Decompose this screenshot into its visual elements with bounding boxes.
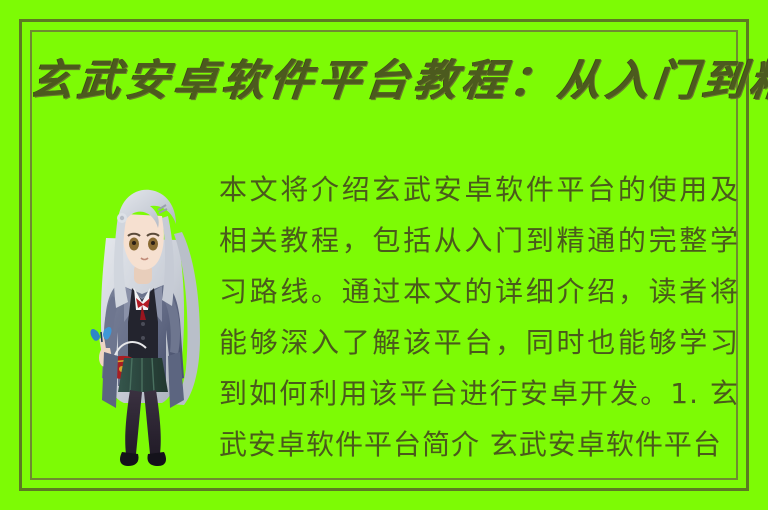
pupil-right [151, 241, 155, 245]
vest-button-1 [141, 322, 145, 326]
pupil-left [132, 241, 136, 245]
hair-bun-center [120, 216, 124, 220]
shoe-right [147, 452, 166, 466]
page-title: 玄武安卓软件平台教程：从入门到精通 [27, 52, 741, 110]
article-body-text: 本文将介绍玄武安卓软件平台的使用及相关教程，包括从入门到精通的完整学习路线。通过… [219, 164, 739, 482]
coat-flap-left [102, 352, 118, 408]
poster-canvas: 玄武安卓软件平台教程：从入门到精通 本文将介绍玄武安卓软件平台的使用及相关教程，… [0, 0, 768, 510]
shoe-left [120, 452, 139, 466]
anime-girl-character-illustration [62, 172, 222, 472]
vest-button-2 [141, 336, 145, 340]
skirt [118, 358, 168, 392]
